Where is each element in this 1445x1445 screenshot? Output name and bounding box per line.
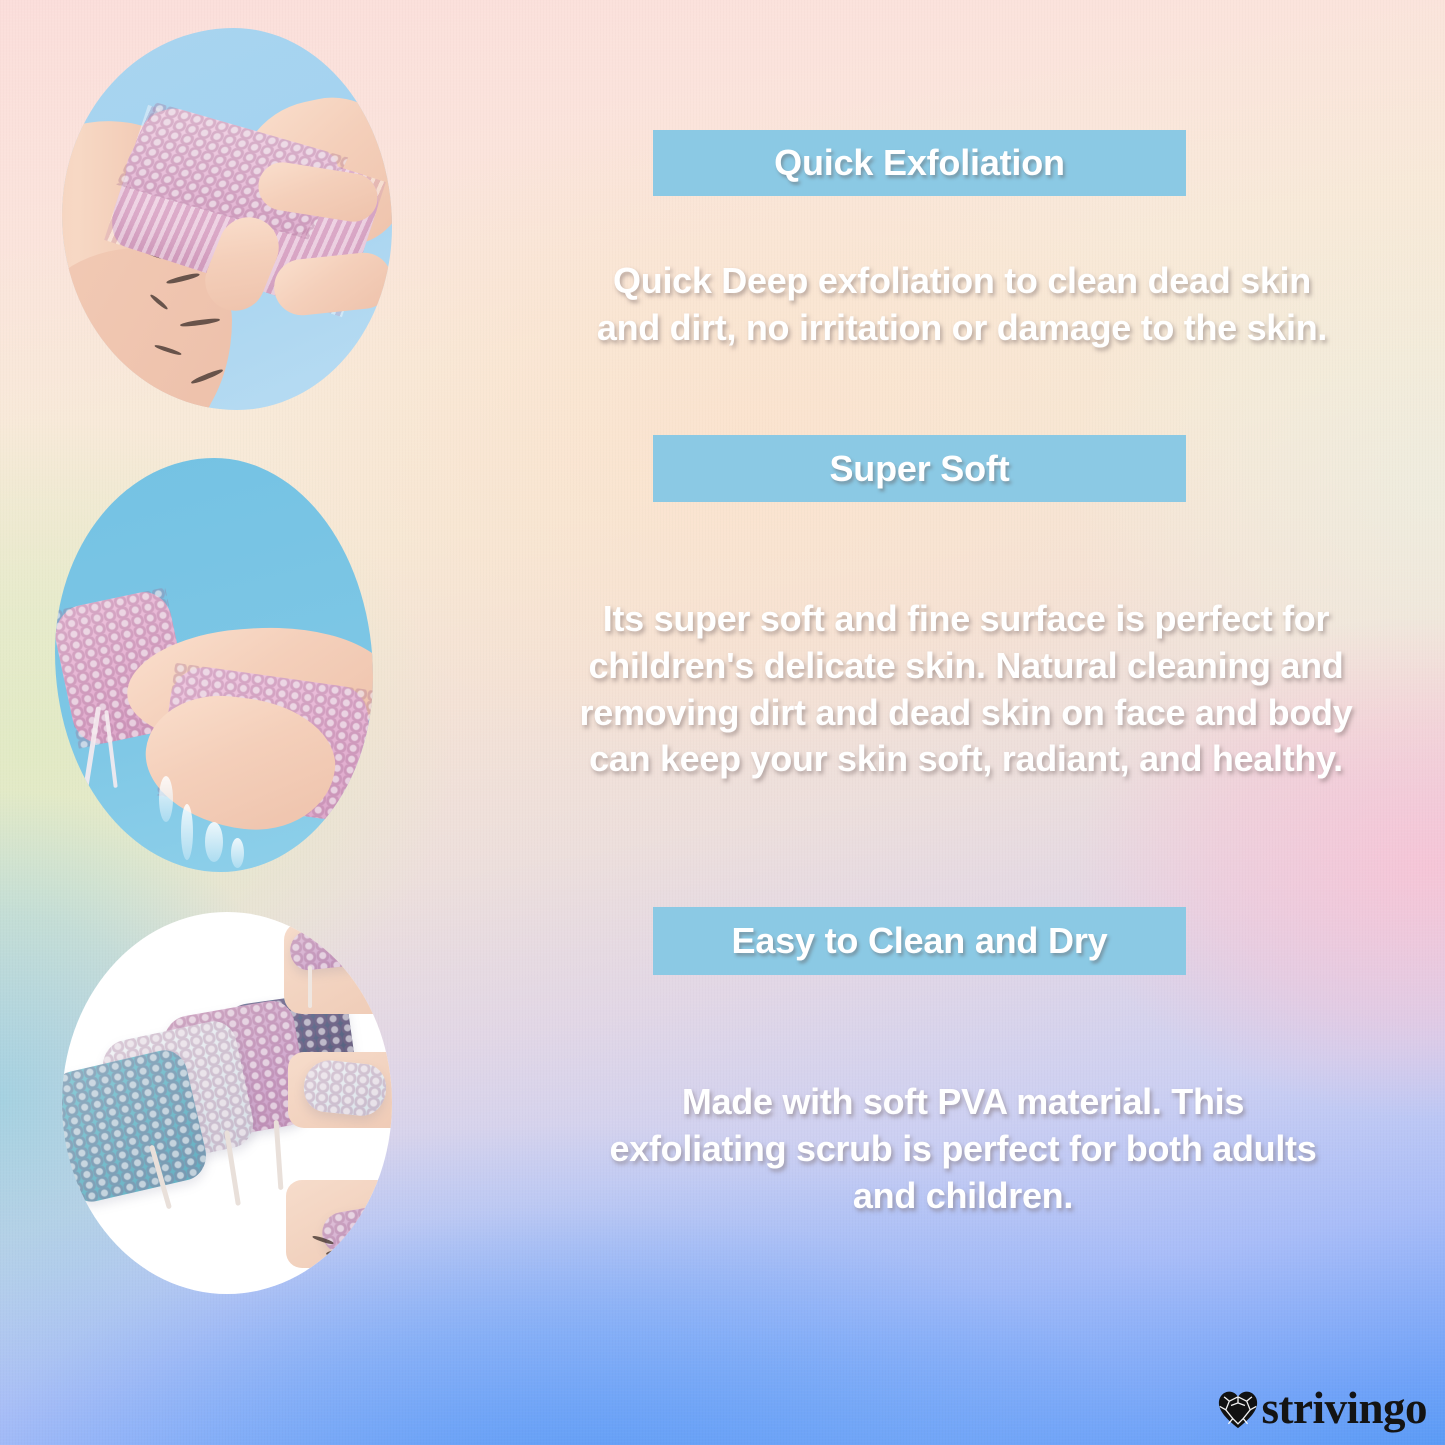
product-photo-exfoliating-arm bbox=[62, 28, 392, 410]
inset-photo-hanging-sponge bbox=[284, 922, 392, 1014]
heading-super-soft: Super Soft bbox=[829, 448, 1009, 490]
body-text-quick-exfoliation: Quick Deep exfoliation to clean dead ski… bbox=[587, 258, 1337, 352]
water-droplet bbox=[159, 776, 173, 822]
infographic-canvas: Quick Exfoliation Quick Deep exfoliation… bbox=[0, 0, 1445, 1445]
body-text-easy-clean-dry: Made with soft PVA material. This exfoli… bbox=[593, 1079, 1333, 1219]
product-photo-squeeze-water bbox=[55, 458, 373, 872]
section-heading-banner-super-soft: Super Soft bbox=[653, 435, 1186, 502]
section-heading-banner-quick-exfoliation: Quick Exfoliation bbox=[653, 130, 1186, 196]
water-droplet bbox=[205, 822, 223, 862]
section-heading-banner-easy-clean-dry: Easy to Clean and Dry bbox=[653, 907, 1186, 975]
water-droplet bbox=[231, 838, 244, 868]
content-column: Quick Exfoliation Quick Deep exfoliation… bbox=[565, 0, 1375, 1445]
brand-name: strivingo bbox=[1261, 1386, 1427, 1431]
brand-logo: strivingo bbox=[1217, 1386, 1427, 1431]
heading-quick-exfoliation: Quick Exfoliation bbox=[774, 142, 1065, 184]
heading-easy-clean-dry: Easy to Clean and Dry bbox=[732, 920, 1108, 962]
inset-photo-hand-holding-sponge bbox=[288, 1052, 392, 1128]
water-droplet bbox=[181, 804, 193, 860]
body-text-super-soft: Its super soft and fine surface is perfe… bbox=[571, 596, 1361, 783]
product-photo-colour-lineup bbox=[62, 912, 392, 1294]
heart-gem-icon bbox=[1217, 1389, 1259, 1429]
inset-photo-arm-scrub bbox=[286, 1180, 392, 1268]
